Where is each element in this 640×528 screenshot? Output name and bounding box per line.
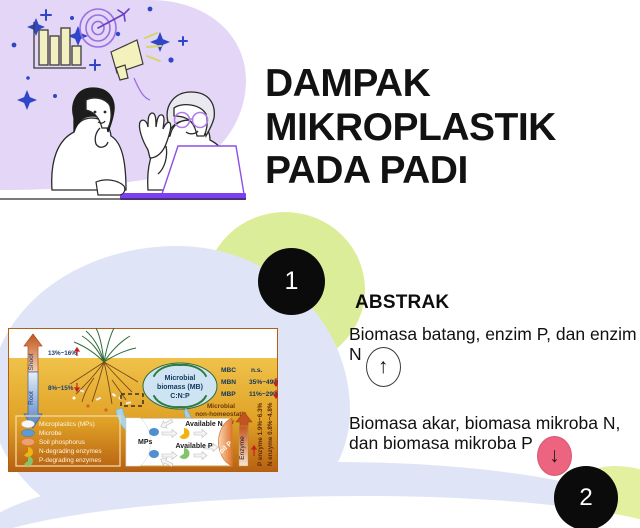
header-illustration [0,0,246,207]
figure-shoot-label: Shoot [28,353,35,370]
figure-legend-2: Soil phosphorus [39,439,85,446]
figure-stat-name-mbc: MBC [221,367,236,374]
figure-bubble-line-3: C:N:P [170,393,190,400]
section-number-badge-1: 1 [258,248,325,315]
figure-bubble-line-2: biomass (MB) [157,384,203,391]
badge-1-label: 1 [285,267,299,296]
figure-enzyme-axis-label: Enzyme [239,436,246,460]
figure-legend-0: Microplastics (MPs) [39,421,95,428]
figure-legend-1: Microbe [39,430,62,437]
figure-legend-4: P-degrading enzymes [39,457,101,464]
figure-legend-3: N-degrading enzymes [39,448,102,455]
figure-stat-name-mbn: MBN [221,379,236,386]
title-line-1: DAMPAK [265,62,635,106]
figure-stat-value-mbc: n.s. [251,367,263,374]
page-title: DAMPAK MIKROPLASTIK PADA PADI [265,62,635,193]
figure-available-p-label: Available P [175,443,212,450]
abstrak-section: ABSTRAK Biomasa batang, enzim P, dan enz… [349,292,637,476]
figure-mps-label: MPs [138,439,153,446]
abstrak-paragraph-1: Biomasa batang, enzim P, dan enzim N↑ [349,324,637,387]
figure-bubble-line-1: Microbial [165,375,196,382]
title-line-2: MIKROPLASTIK [265,106,635,150]
figure-enzyme-value-n: N enzyme 0.8%~4.8% [267,402,274,466]
figure-available-n-label: Available N [185,421,222,428]
figure-stat-name-mbp: MBP [221,391,236,398]
abstrak-heading: ABSTRAK [355,292,637,314]
arrow-up-icon: ↑ [366,347,401,387]
figure-behavior-line-1: Microbial [207,403,235,410]
title-line-3: PADA PADI [265,149,635,193]
arrow-down-icon: ↓ [537,436,572,476]
figure-root-value: 8%~15% [48,385,74,392]
badge-2-label: 2 [579,484,592,512]
white-wave-decoration [0,496,640,528]
figure-enzyme-value-p: P enzyme 1.9%~6.3% [257,403,264,466]
abstrak-paragraph-2: Biomasa akar, biomasa mikroba N, dan bio… [349,413,637,476]
figure-root-label: Root [28,391,35,405]
figure-shoot-value: 13%~16% [48,350,77,357]
figure-behavior-line-2: non-homeostatic [195,411,247,418]
abstrak-paragraph-2-text: Biomasa akar, biomasa mikroba N, dan bio… [349,413,620,453]
slide-canvas: DAMPAK MIKROPLASTIK PADA PADI 1 2 ABSTRA… [0,0,640,528]
microplastics-rice-diagram: Shoot 13%~16% Root 8%~15% Microbial biom… [8,328,278,472]
